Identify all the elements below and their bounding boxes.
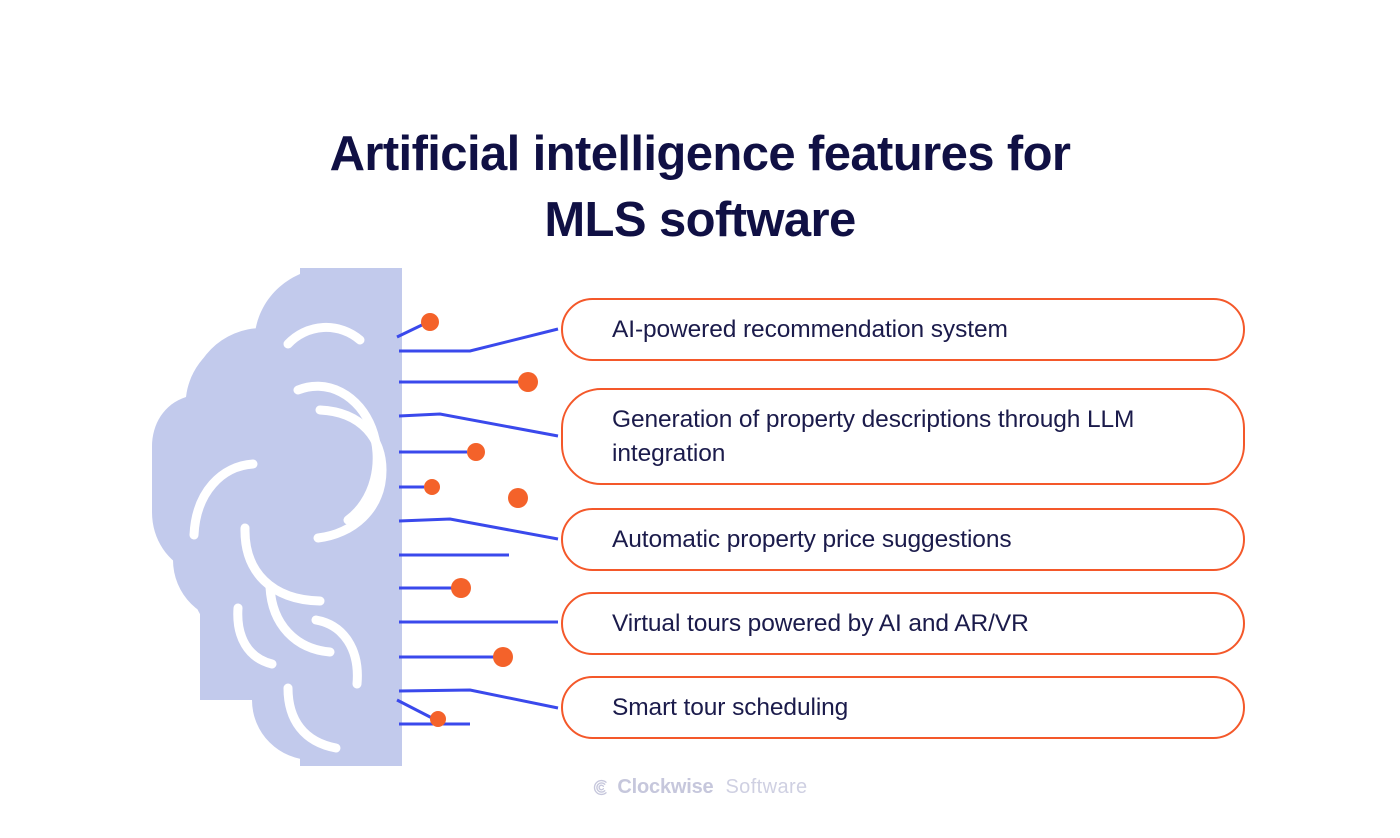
- logo-brand-suffix: Software: [725, 776, 807, 799]
- clockwise-swirl-icon: [592, 779, 609, 796]
- feature-list: AI-powered recommendation system Generat…: [0, 0, 1400, 838]
- feature-label: Automatic property price suggestions: [612, 523, 1012, 557]
- logo-brand-name: Clockwise: [617, 776, 713, 799]
- feature-label: Generation of property descriptions thro…: [612, 403, 1195, 471]
- feature-label: AI-powered recommendation system: [612, 313, 1008, 347]
- feature-box-property-descriptions[interactable]: Generation of property descriptions thro…: [561, 388, 1245, 485]
- infographic-canvas: Artificial intelligence features for MLS…: [0, 0, 1400, 838]
- feature-box-virtual-tours[interactable]: Virtual tours powered by AI and AR/VR: [561, 592, 1245, 655]
- feature-box-tour-scheduling[interactable]: Smart tour scheduling: [561, 676, 1245, 739]
- feature-box-ai-recommendations[interactable]: AI-powered recommendation system: [561, 298, 1245, 361]
- feature-label: Smart tour scheduling: [612, 691, 848, 725]
- feature-box-price-suggestions[interactable]: Automatic property price suggestions: [561, 508, 1245, 571]
- clockwise-software-logo: Clockwise Software: [0, 776, 1400, 799]
- feature-label: Virtual tours powered by AI and AR/VR: [612, 607, 1029, 641]
